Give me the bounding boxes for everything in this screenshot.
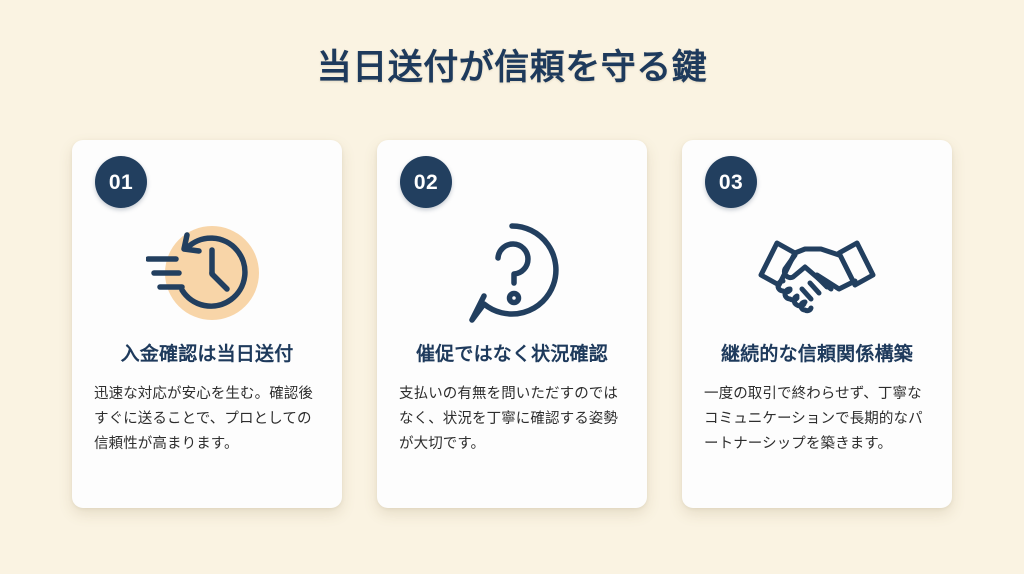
card-body-02: 催促ではなく状況確認 支払いの有無を問いただすのではなく、状況を丁寧に確認する姿… bbox=[399, 342, 625, 457]
card-03[interactable]: 03 bbox=[682, 140, 952, 508]
page-title: 当日送付が信頼を守る鍵 bbox=[0, 46, 1024, 90]
slide-canvas: 当日送付が信頼を守る鍵 01 bbox=[0, 0, 1024, 574]
card-01[interactable]: 01 入金確認は当日送付 bbox=[72, 140, 342, 508]
card-heading: 継続的な信頼関係構築 bbox=[704, 342, 930, 368]
question-speech-bubble-icon bbox=[377, 212, 647, 334]
card-description: 迅速な対応が安心を生む。確認後すぐに送ることで、プロとしての信頼性が高まります。 bbox=[94, 382, 320, 458]
card-heading: 入金確認は当日送付 bbox=[94, 342, 320, 368]
card-02[interactable]: 02 催促ではなく状況確認 支払いの有無を問いただすのではなく、状況を丁寧に確認… bbox=[377, 140, 647, 508]
fast-clock-icon bbox=[72, 212, 342, 334]
card-description: 一度の取引で終わらせず、丁寧なコミュニケーションで長期的なパートナーシップを築き… bbox=[704, 382, 930, 458]
badge-number: 02 bbox=[414, 172, 438, 193]
card-description: 支払いの有無を問いただすのではなく、状況を丁寧に確認する姿勢が大切です。 bbox=[399, 382, 625, 458]
badge-03: 03 bbox=[705, 156, 757, 208]
card-heading: 催促ではなく状況確認 bbox=[399, 342, 625, 368]
badge-number: 03 bbox=[719, 172, 743, 193]
badge-number: 01 bbox=[109, 172, 133, 193]
badge-02: 02 bbox=[400, 156, 452, 208]
badge-01: 01 bbox=[95, 156, 147, 208]
card-body-03: 継続的な信頼関係構築 一度の取引で終わらせず、丁寧なコミュニケーションで長期的な… bbox=[704, 342, 930, 457]
handshake-icon bbox=[682, 212, 952, 334]
title-container: 当日送付が信頼を守る鍵 bbox=[0, 46, 1024, 90]
card-body-01: 入金確認は当日送付 迅速な対応が安心を生む。確認後すぐに送ることで、プロとしての… bbox=[94, 342, 320, 457]
cards-row: 01 入金確認は当日送付 bbox=[72, 140, 952, 508]
